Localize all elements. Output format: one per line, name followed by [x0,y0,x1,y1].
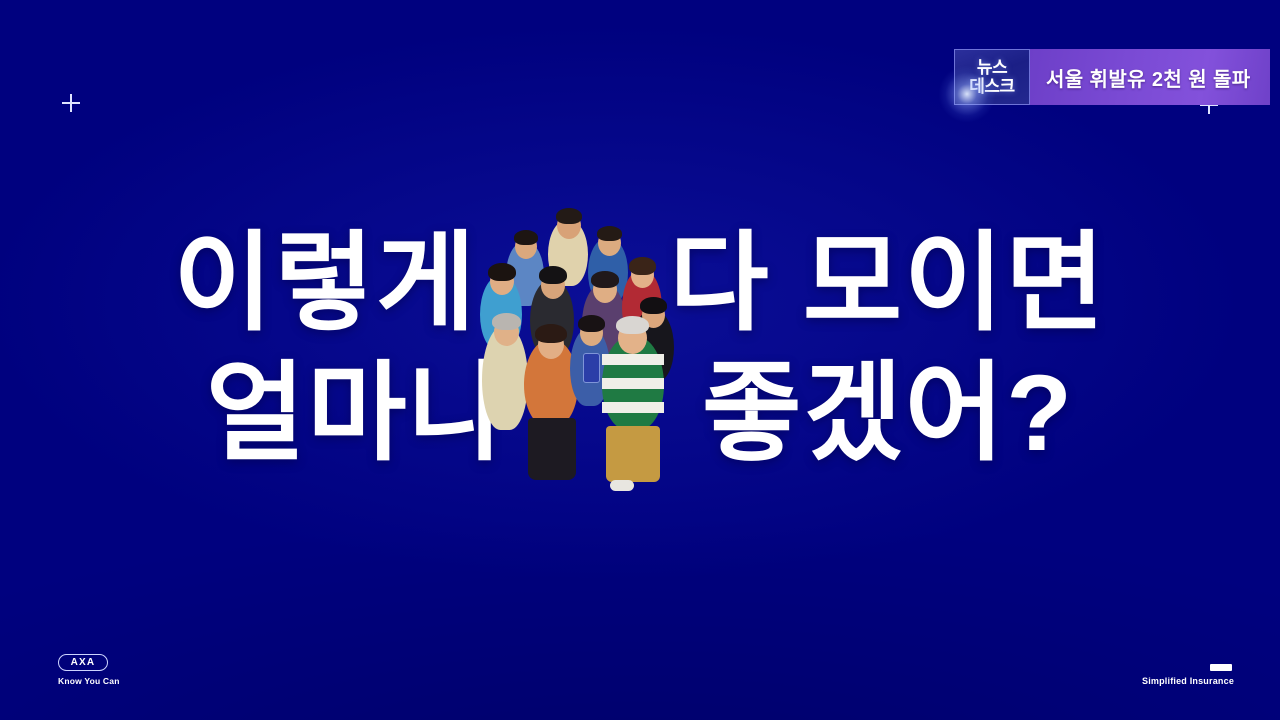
axa-brand-logo: AXA Know You Can [58,654,120,686]
news-headline-text: 서울 휘발유 2천 원 돌파 [1046,63,1251,92]
axa-wordmark: AXA [58,654,108,671]
simplified-insurance-mark: Simplified Insurance [1142,664,1234,686]
news-logo-line-2: 데스크 [969,77,1014,96]
group-photo-people [470,218,690,498]
news-logo-line-1: 뉴스 [977,58,1007,77]
axa-tagline: Know You Can [58,676,120,686]
news-overlay-banner: 뉴스 데스크 서울 휘발유 2천 원 돌파 [954,49,1270,105]
simplified-insurance-label: Simplified Insurance [1142,676,1234,686]
video-frame: 이렇게 다 모이면 얼마나 좋겠어? [0,0,1280,720]
white-swatch-icon [1210,664,1232,671]
crosshair-marker-left [62,94,80,112]
news-headline-bar: 서울 휘발유 2천 원 돌파 [1030,49,1270,105]
news-program-logo: 뉴스 데스크 [954,49,1030,105]
